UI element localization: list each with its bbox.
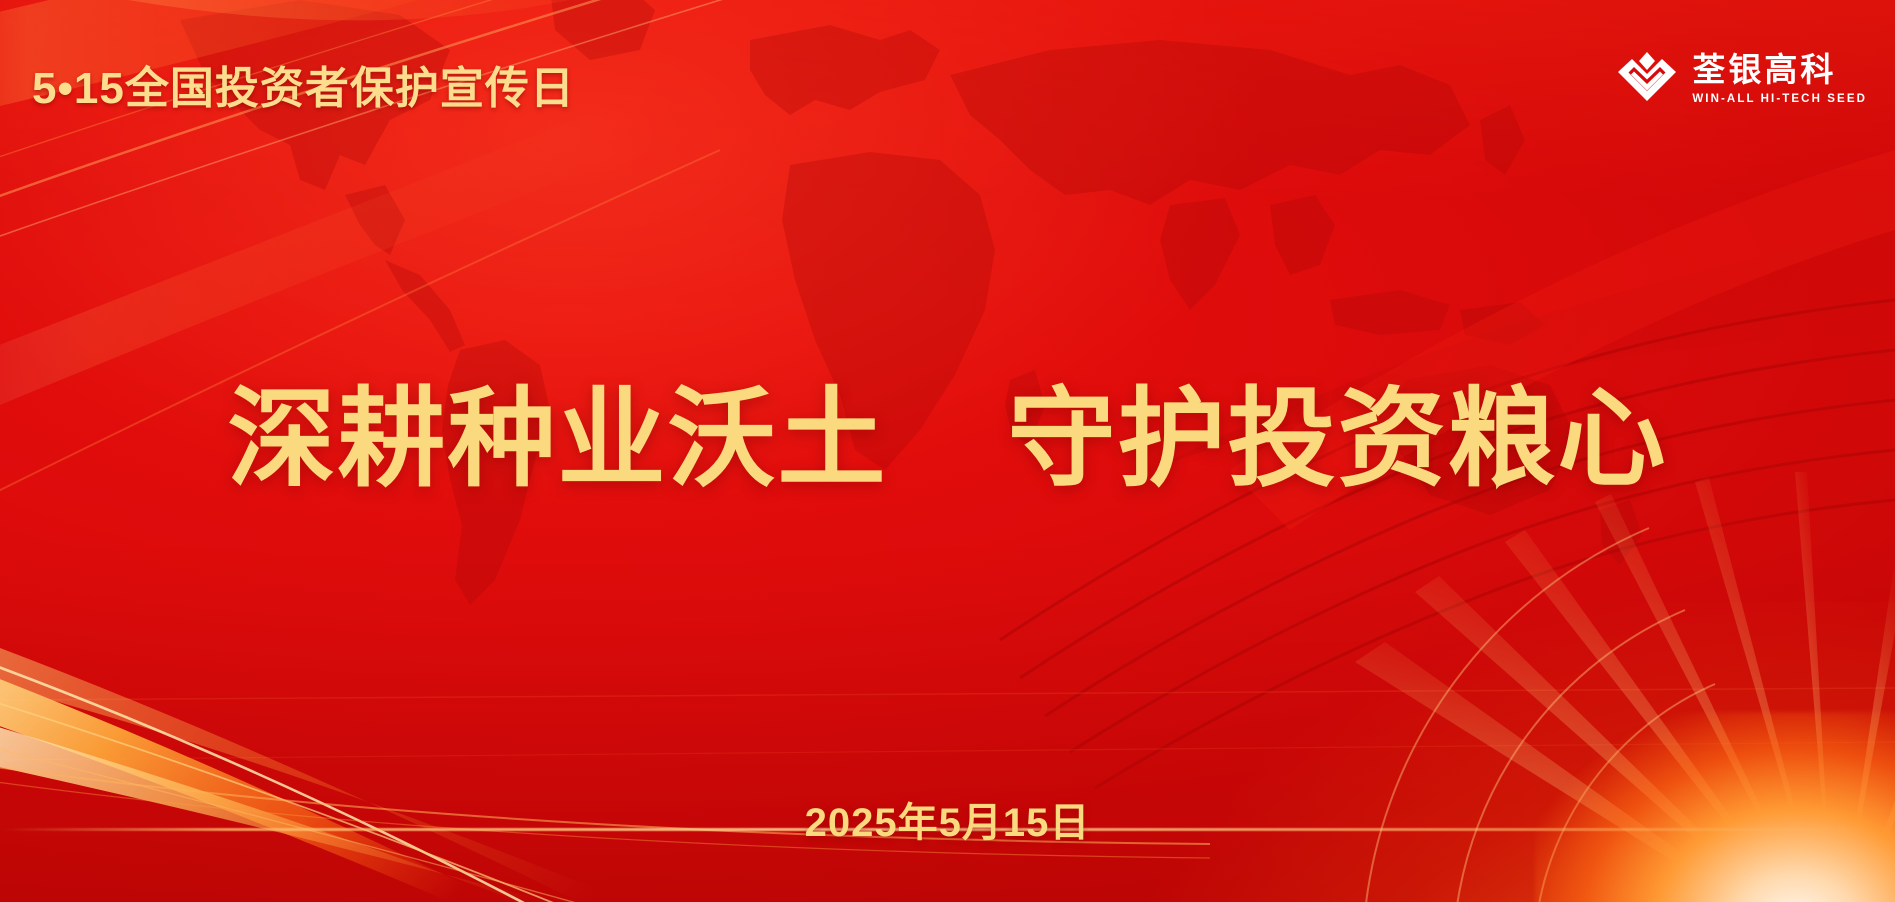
gold-ribbon-decoration [0, 612, 1210, 902]
logo-company-name-en: WIN-ALL HI-TECH SEED [1692, 93, 1867, 105]
campaign-header-title: 5•15全国投资者保护宣传日 [32, 52, 575, 116]
event-date: 2025年5月15日 [0, 790, 1895, 848]
company-logo: 荃银高科 WIN-ALL HI-TECH SEED [1616, 48, 1867, 110]
main-slogan: 深耕种业沃土 守护投资粮心 [0, 352, 1895, 508]
banner-poster: 5•15全国投资者保护宣传日 荃银高科 WIN-ALL HI-TECH SEED… [0, 0, 1895, 902]
main-slogan-part-2: 守护投资粮心 [1008, 378, 1668, 499]
chevron-seed-logo-icon [1616, 48, 1678, 110]
main-slogan-part-1: 深耕种业沃土 [227, 378, 887, 499]
logo-text-block: 荃银高科 WIN-ALL HI-TECH SEED [1692, 53, 1867, 105]
logo-company-name-cn: 荃银高科 [1692, 53, 1867, 88]
